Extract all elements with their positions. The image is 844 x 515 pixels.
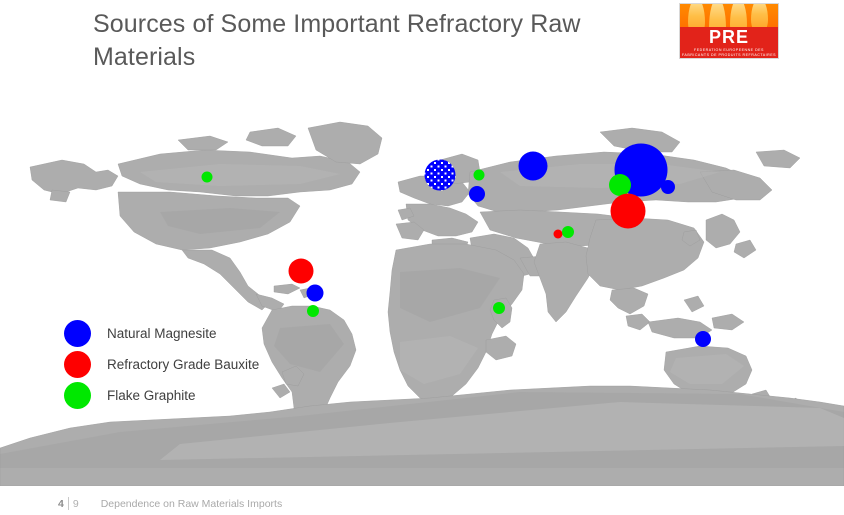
- legend: Natural Magnesite Refractory Grade Bauxi…: [64, 318, 304, 411]
- marker-madagascar-graphite[interactable]: [493, 302, 505, 314]
- logo-tagline-line2: FABRICANTS DE PRODUITS REFRACTAIRES: [680, 53, 778, 58]
- legend-swatch-flake-graphite: [64, 382, 91, 409]
- world-map-svg: [0, 72, 844, 486]
- marker-brazil-graphite[interactable]: [307, 305, 319, 317]
- pre-logo: PRE FEDERATION EUROPEENNE DES FABRICANTS…: [679, 3, 779, 59]
- legend-label-flake-graphite: Flake Graphite: [107, 388, 196, 403]
- logo-wordmark: PRE: [680, 27, 778, 48]
- world-map: [0, 72, 844, 486]
- marker-india-graphite[interactable]: [562, 226, 574, 238]
- marker-korea-magnesite[interactable]: [661, 180, 675, 194]
- marker-china-bauxite[interactable]: [611, 194, 646, 229]
- legend-swatch-refractory-grade-bauxite: [64, 351, 91, 378]
- marker-brazil-bauxite[interactable]: [289, 259, 314, 284]
- footer-text: Dependence on Raw Materials Imports: [101, 498, 283, 510]
- marker-europe-magnesite[interactable]: [425, 160, 456, 191]
- legend-item-natural-magnesite[interactable]: Natural Magnesite: [64, 318, 304, 349]
- legend-swatch-natural-magnesite: [64, 320, 91, 347]
- slide-footer: 4 9 Dependence on Raw Materials Imports: [0, 492, 844, 515]
- page-number-current: 4: [58, 498, 68, 510]
- marker-north-america-graphite[interactable]: [202, 172, 213, 183]
- logo-tagline: FEDERATION EUROPEENNE DES FABRICANTS DE …: [680, 48, 778, 58]
- marker-brazil-magnesite[interactable]: [307, 285, 324, 302]
- marker-russia-magnesite[interactable]: [519, 152, 548, 181]
- marker-ukraine-graphite[interactable]: [474, 170, 485, 181]
- page-title: Sources of Some Important Refractory Raw…: [93, 8, 638, 74]
- page-number-total: 9: [69, 498, 79, 510]
- marker-turkey-magnesite[interactable]: [469, 186, 485, 202]
- marker-australia-magnesite[interactable]: [695, 331, 711, 347]
- slide: Sources of Some Important Refractory Raw…: [0, 0, 844, 515]
- legend-item-flake-graphite[interactable]: Flake Graphite: [64, 380, 304, 411]
- legend-item-refractory-grade-bauxite[interactable]: Refractory Grade Bauxite: [64, 349, 304, 380]
- legend-label-natural-magnesite: Natural Magnesite: [107, 326, 217, 341]
- legend-label-refractory-grade-bauxite: Refractory Grade Bauxite: [107, 357, 259, 372]
